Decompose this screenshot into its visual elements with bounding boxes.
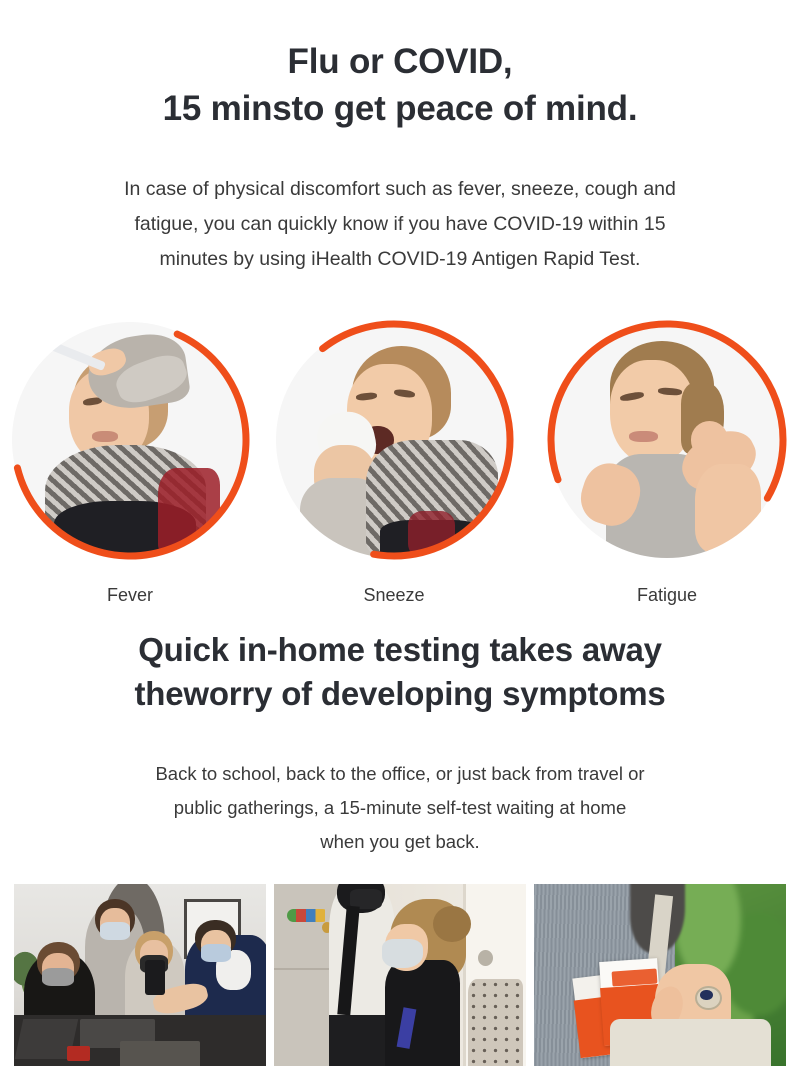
hero-headline-line-2: 15 minsto get peace of mind. [0, 85, 800, 132]
symptom-gallery: Fever [0, 318, 800, 608]
section-description: Back to school, back to the office, or j… [70, 757, 730, 859]
symptom-label-fatigue: Fatigue [542, 584, 792, 606]
symptom-card-fever: Fever [5, 318, 255, 606]
symptom-card-fatigue: Fatigue [542, 318, 792, 606]
lifestyle-photo-ihealth-kit [534, 884, 786, 1066]
section-paragraph-line-2: public gatherings, a 15-minute self-test… [70, 791, 730, 825]
symptom-label-fever: Fever [5, 584, 255, 606]
section-headline-line-2: theworry of developing symptoms [0, 672, 800, 716]
hero-headline-line-1: Flu or COVID, [0, 38, 800, 85]
section-paragraph-line-1: Back to school, back to the office, or j… [70, 757, 730, 791]
hero-paragraph-line-3: minutes by using iHealth COVID-19 Antige… [55, 242, 745, 277]
symptom-image-fever [8, 318, 252, 562]
symptom-photo-fatigue [549, 322, 785, 558]
lifestyle-photo-strip [14, 884, 786, 1066]
hero-description: In case of physical discomfort such as f… [55, 172, 745, 277]
hero-paragraph-line-1: In case of physical discomfort such as f… [55, 172, 745, 207]
symptom-photo-sneeze [276, 322, 512, 558]
symptom-label-sneeze: Sneeze [269, 584, 519, 606]
symptom-photo-fever [12, 322, 248, 558]
lifestyle-photo-children-backpacks [274, 884, 526, 1066]
page-title: Flu or COVID, 15 minsto get peace of min… [0, 38, 800, 132]
section-paragraph-line-3: when you get back. [70, 825, 730, 859]
symptom-image-sneeze [272, 318, 516, 562]
section-title: Quick in-home testing takes away theworr… [0, 628, 800, 716]
symptom-card-sneeze: Sneeze [269, 318, 519, 606]
hero-paragraph-line-2: fatigue, you can quickly know if you hav… [55, 207, 745, 242]
section-headline-line-1: Quick in-home testing takes away [0, 628, 800, 672]
lifestyle-photo-group-at-table [14, 884, 266, 1066]
symptom-image-fatigue [545, 318, 789, 562]
